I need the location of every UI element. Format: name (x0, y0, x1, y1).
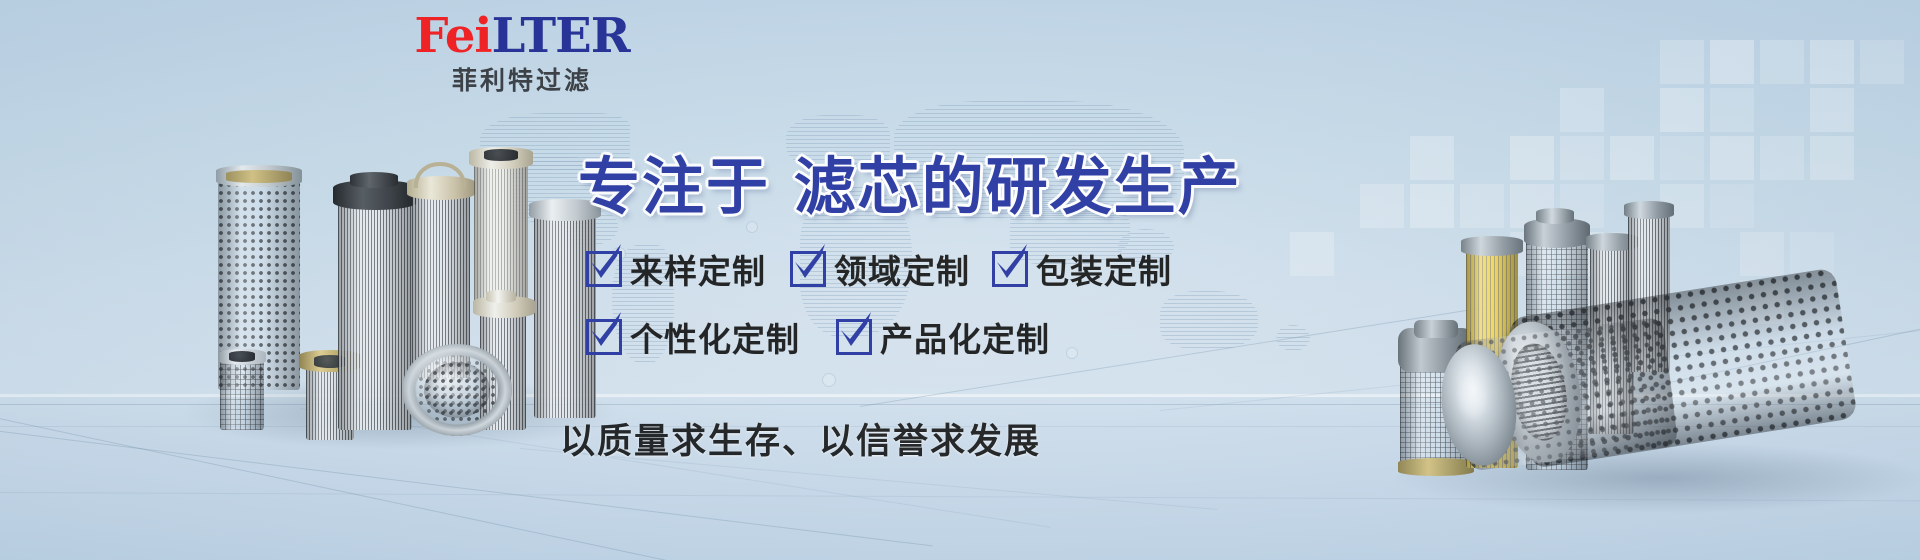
checkbox-checked-icon (586, 251, 622, 287)
checkbox-checked-icon (586, 319, 622, 355)
feature-label: 产品化定制 (880, 313, 1050, 361)
feature-item[interactable]: 包装定制 (992, 245, 1172, 293)
headline-text: 专注于 滤芯的研发生产 (578, 136, 1242, 226)
logo-chinese-name: 菲利特过滤 (392, 66, 652, 96)
filter-cartridge (220, 356, 264, 430)
feature-item[interactable]: 产品化定制 (836, 313, 1050, 361)
filter-cartridge (402, 344, 512, 436)
feature-item[interactable]: 个性化定制 (586, 313, 800, 361)
feature-row-2: 个性化定制 产品化定制 (586, 313, 1172, 361)
right-product-group (1400, 190, 1920, 510)
checkbox-checked-icon (790, 251, 826, 287)
feature-list: 来样定制 领域定制 包装定制 个性化定制 (586, 245, 1172, 361)
brand-logo[interactable]: FeiLTER 菲利特过滤 (392, 10, 652, 96)
feature-item[interactable]: 来样定制 (586, 245, 766, 293)
logo-word-part1: Fei (414, 8, 491, 64)
filter-cartridge (338, 200, 412, 430)
feature-label: 来样定制 (630, 245, 766, 293)
feature-item[interactable]: 领域定制 (790, 245, 970, 293)
feature-row-1: 来样定制 领域定制 包装定制 (586, 245, 1172, 293)
filter-cartridge (1454, 317, 1678, 472)
promo-banner: FeiLTER 菲利特过滤 专注于 滤芯的研发生产 来样定制 领域定制 (0, 0, 1920, 560)
map-marker-icon (822, 373, 836, 387)
feature-label: 包装定制 (1036, 245, 1172, 293)
bottom-slogan: 以质量求生存、以信誉求发展 (560, 413, 1041, 464)
feature-label: 个性化定制 (630, 313, 800, 361)
feature-label: 领域定制 (834, 245, 970, 293)
checkbox-checked-icon (992, 251, 1028, 287)
checkbox-checked-icon (836, 319, 872, 355)
logo-wordmark: FeiLTER (392, 10, 652, 62)
handle-icon (410, 144, 472, 190)
left-product-group (190, 140, 610, 440)
logo-word-part2: LTER (492, 8, 630, 64)
